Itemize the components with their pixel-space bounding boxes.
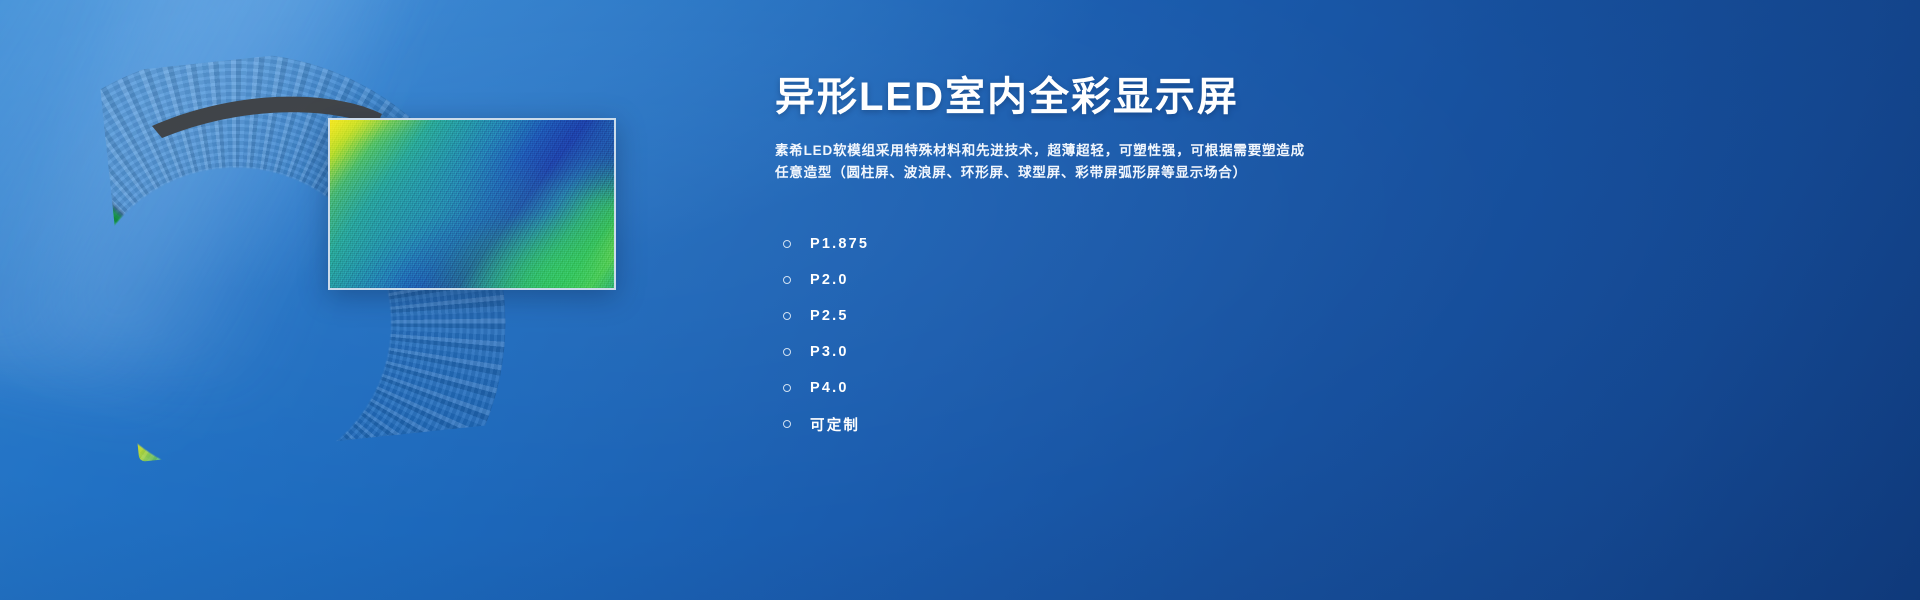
description-line-2: 任意造型（圆柱屏、波浪屏、环形屏、球型屏、彩带屏弧形屏等显示场合） xyxy=(775,162,1425,184)
inset-panel-pixel-grain xyxy=(330,120,614,288)
list-item[interactable]: P2.0 xyxy=(783,262,869,298)
spec-label: P3.0 xyxy=(810,344,849,360)
hollow-circle-icon xyxy=(783,384,791,392)
spec-label: 可定制 xyxy=(810,414,860,435)
page-title: 异形LED室内全彩显示屏 xyxy=(775,74,1239,120)
hollow-circle-icon xyxy=(783,240,791,248)
pixel-pitch-list: P1.875 P2.0 P2.5 P3.0 P4.0 可定制 xyxy=(783,226,869,442)
spec-label: P1.875 xyxy=(810,236,869,252)
list-item[interactable]: P3.0 xyxy=(783,334,869,370)
hollow-circle-icon xyxy=(783,276,791,284)
hollow-circle-icon xyxy=(783,420,791,428)
inset-led-sample-panel xyxy=(328,118,616,290)
product-visual xyxy=(0,0,720,600)
list-item[interactable]: P2.5 xyxy=(783,298,869,334)
product-banner: 异形LED室内全彩显示屏 素希LED软模组采用特殊材料和先进技术，超薄超轻，可塑… xyxy=(0,0,1920,600)
spec-label: P2.0 xyxy=(810,272,849,288)
list-item[interactable]: 可定制 xyxy=(783,406,869,442)
spec-label: P2.5 xyxy=(810,308,849,324)
spec-label: P4.0 xyxy=(810,380,849,396)
list-item[interactable]: P4.0 xyxy=(783,370,869,406)
product-description: 素希LED软模组采用特殊材料和先进技术，超薄超轻，可塑性强，可根据需要塑造成 任… xyxy=(775,140,1425,184)
hollow-circle-icon xyxy=(783,348,791,356)
banner-content: 异形LED室内全彩显示屏 素希LED软模组采用特殊材料和先进技术，超薄超轻，可塑… xyxy=(775,0,1875,600)
hollow-circle-icon xyxy=(783,312,791,320)
list-item[interactable]: P1.875 xyxy=(783,226,869,262)
description-line-1: 素希LED软模组采用特殊材料和先进技术，超薄超轻，可塑性强，可根据需要塑造成 xyxy=(775,140,1425,162)
